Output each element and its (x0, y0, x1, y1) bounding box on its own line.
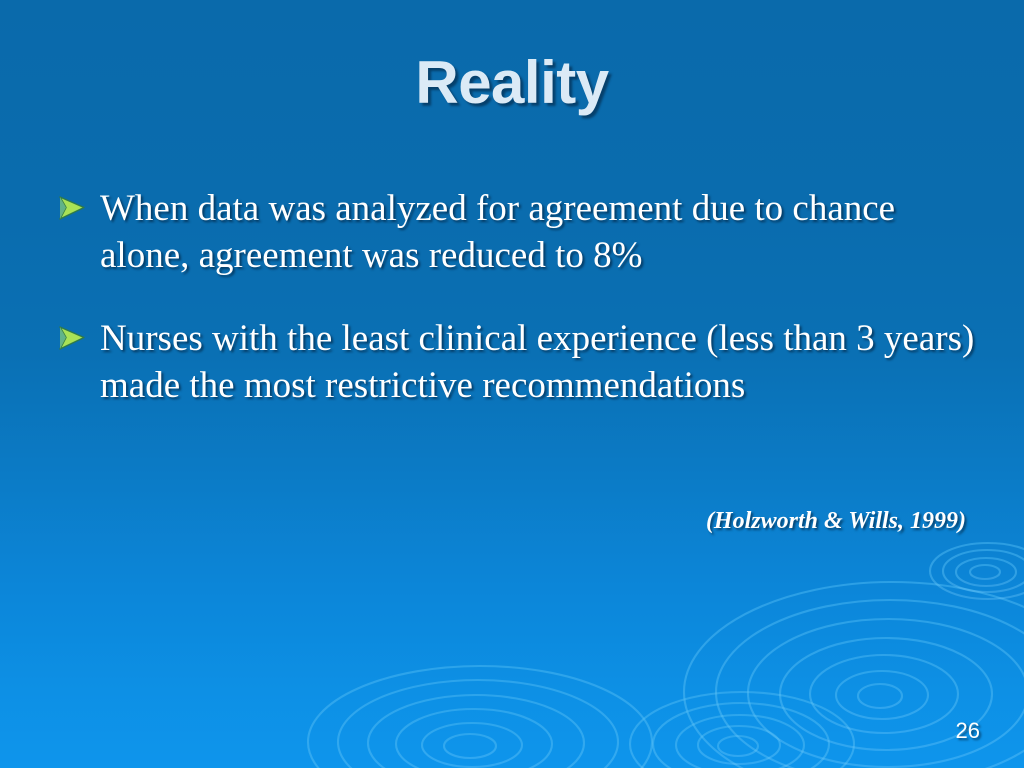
bullet-item-1: When data was analyzed for agreement due… (58, 186, 978, 280)
slide-title: Reality (415, 52, 608, 114)
bullet-text-1: When data was analyzed for agreement due… (100, 186, 978, 280)
body-content: When data was analyzed for agreement due… (58, 186, 978, 410)
page-number: 26 (956, 718, 980, 744)
ripple-cluster-top-right (930, 543, 1024, 599)
title-block: Reality (0, 52, 1024, 114)
citation-reference: (Holzworth & Wills, 1999) (706, 508, 966, 535)
ripple-cluster-left (308, 666, 652, 768)
ripple-cluster-center (630, 692, 854, 768)
green-arrow-bullet-icon (58, 316, 100, 351)
slide: Reality When data was analyzed for agree… (0, 0, 1024, 768)
bullet-item-2: Nurses with the least clinical experienc… (58, 316, 978, 410)
bullet-text-2: Nurses with the least clinical experienc… (100, 316, 978, 410)
green-arrow-bullet-icon (58, 186, 100, 221)
